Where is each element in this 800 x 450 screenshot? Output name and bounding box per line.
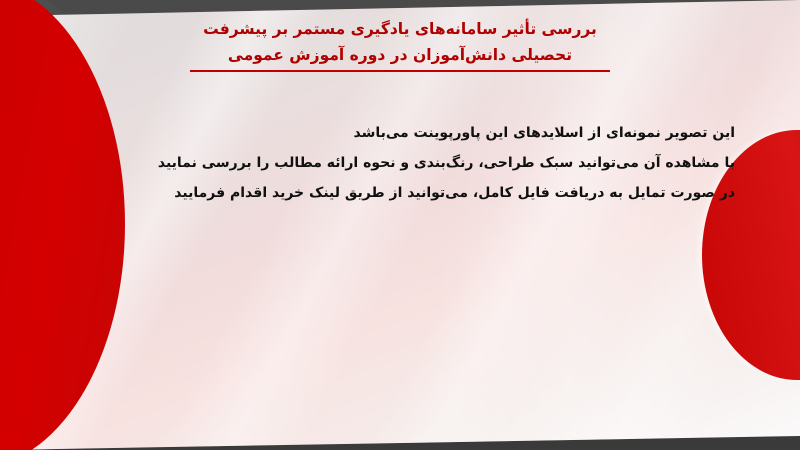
slide-body-line-1: این تصویر نمونه‌ای از اسلایدهای این پاور… [60,118,735,148]
slide-content: بررسی تأثیر سامانه‌های یادگیری مستمر بر … [0,0,800,450]
slide-title: بررسی تأثیر سامانه‌های یادگیری مستمر بر … [120,16,680,72]
presentation-slide: بررسی تأثیر سامانه‌های یادگیری مستمر بر … [0,0,800,450]
slide-title-underline [190,70,610,72]
slide-body-line-2: با مشاهده آن می‌توانید سبک طراحی، رنگ‌بن… [60,148,735,178]
slide-title-line-2: تحصیلی دانش‌آموزان در دوره آموزش عمومی [120,42,680,68]
slide-body-line-3: در صورت تمایل به دریافت فایل کامل، می‌تو… [60,178,735,208]
slide-body-text: این تصویر نمونه‌ای از اسلایدهای این پاور… [60,118,735,208]
slide-title-line-1: بررسی تأثیر سامانه‌های یادگیری مستمر بر … [120,16,680,42]
